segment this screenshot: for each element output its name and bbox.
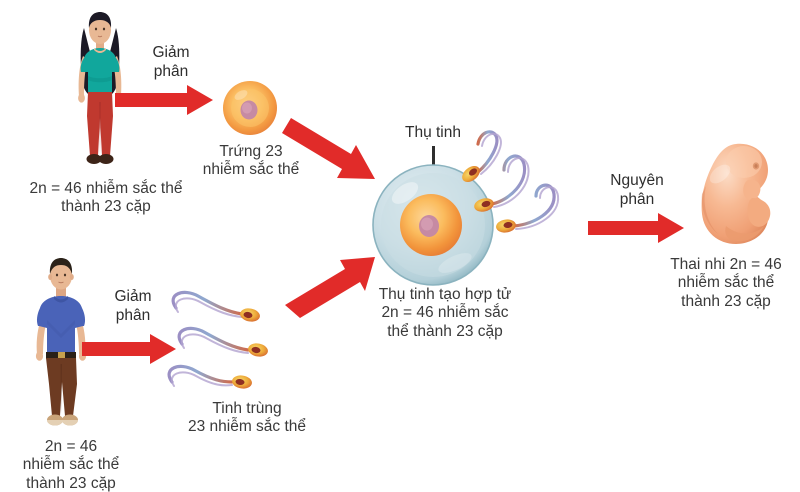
- sperm-caption: Tinh trùng 23 nhiễm sắc thể: [157, 400, 337, 437]
- mitosis-label: Nguyên phân: [592, 172, 682, 209]
- egg-cell: [221, 79, 279, 137]
- zygote-caption: Thụ tinh tạo hợp tử 2n = 46 nhiễm sắc th…: [350, 286, 540, 341]
- reproduction-diagram: 2n = 46 nhiễm sắc thể thành 23 cặp Giảm …: [0, 0, 800, 492]
- sperm-2: [179, 328, 269, 358]
- fetus-caption: Thai nhi 2n = 46 nhiễm sắc thể thành 23 …: [652, 256, 800, 311]
- fertilization-arrow-egg: [283, 114, 377, 186]
- sperm-1: [173, 292, 261, 323]
- mitosis-arrow: [588, 213, 686, 243]
- sperm-at-egg-3: [495, 185, 558, 234]
- meiosis-female-label: Giảm phân: [128, 44, 214, 81]
- female-parent-caption: 2n = 46 nhiễm sắc thể thành 23 cặp: [6, 180, 206, 217]
- meiosis-male-arrow: [82, 334, 178, 364]
- male-parent-caption: 2n = 46 nhiễm sắc thể thành 23 cặp: [0, 438, 156, 492]
- sperm-3: [169, 366, 253, 389]
- sperm-at-egg-2: [473, 156, 529, 214]
- sperm-cell-group: [168, 286, 298, 396]
- sperm-at-egg-group: [452, 126, 574, 240]
- meiosis-female-arrow: [115, 85, 215, 115]
- human-fetus: [692, 140, 784, 250]
- sperm-at-egg-1: [459, 132, 501, 185]
- meiosis-male-label: Giảm phân: [90, 288, 176, 325]
